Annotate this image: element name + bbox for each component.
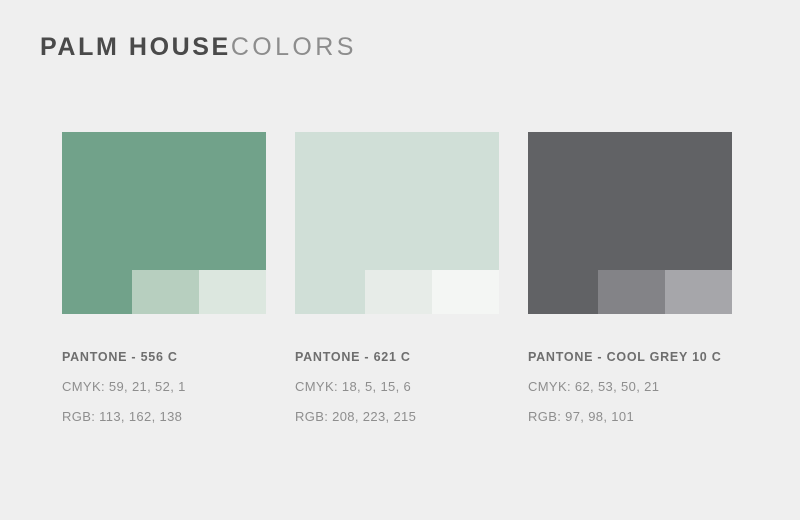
swatch-tint-2	[665, 270, 732, 314]
rgb-value: RGB: 208, 223, 215	[295, 409, 499, 424]
color-swatch-caption: PANTONE - COOL GREY 10 C CMYK: 62, 53, 5…	[528, 350, 732, 424]
page-title-suffix: COLORS	[231, 33, 357, 61]
color-swatch-blocks	[295, 132, 499, 314]
color-swatch-card: PANTONE - 556 C CMYK: 59, 21, 52, 1 RGB:…	[62, 132, 266, 424]
color-swatch-blocks	[528, 132, 732, 314]
page-title: PALM HOUSECOLORS	[40, 31, 357, 63]
cmyk-value: CMYK: 18, 5, 15, 6	[295, 379, 499, 394]
color-swatch-caption: PANTONE - 621 C CMYK: 18, 5, 15, 6 RGB: …	[295, 350, 499, 424]
swatch-tint-1	[598, 270, 665, 314]
rgb-value: RGB: 113, 162, 138	[62, 409, 266, 424]
swatch-tint-2	[432, 270, 499, 314]
cmyk-value: CMYK: 62, 53, 50, 21	[528, 379, 732, 394]
swatch-tints	[365, 270, 499, 314]
page-title-brand: PALM HOUSE	[40, 33, 231, 61]
swatch-tint-1	[365, 270, 432, 314]
swatch-tint-2	[199, 270, 266, 314]
swatch-tints	[132, 270, 266, 314]
pantone-name: PANTONE - 621 C	[295, 350, 499, 364]
color-swatch-card: PANTONE - 621 C CMYK: 18, 5, 15, 6 RGB: …	[295, 132, 499, 424]
rgb-value: RGB: 97, 98, 101	[528, 409, 732, 424]
swatch-tint-1	[132, 270, 199, 314]
color-swatch-card: PANTONE - COOL GREY 10 C CMYK: 62, 53, 5…	[528, 132, 732, 424]
color-palette: PANTONE - 556 C CMYK: 59, 21, 52, 1 RGB:…	[62, 132, 762, 424]
color-swatch-blocks	[62, 132, 266, 314]
pantone-name: PANTONE - 556 C	[62, 350, 266, 364]
cmyk-value: CMYK: 59, 21, 52, 1	[62, 379, 266, 394]
color-swatch-caption: PANTONE - 556 C CMYK: 59, 21, 52, 1 RGB:…	[62, 350, 266, 424]
swatch-tints	[598, 270, 732, 314]
pantone-name: PANTONE - COOL GREY 10 C	[528, 350, 732, 364]
